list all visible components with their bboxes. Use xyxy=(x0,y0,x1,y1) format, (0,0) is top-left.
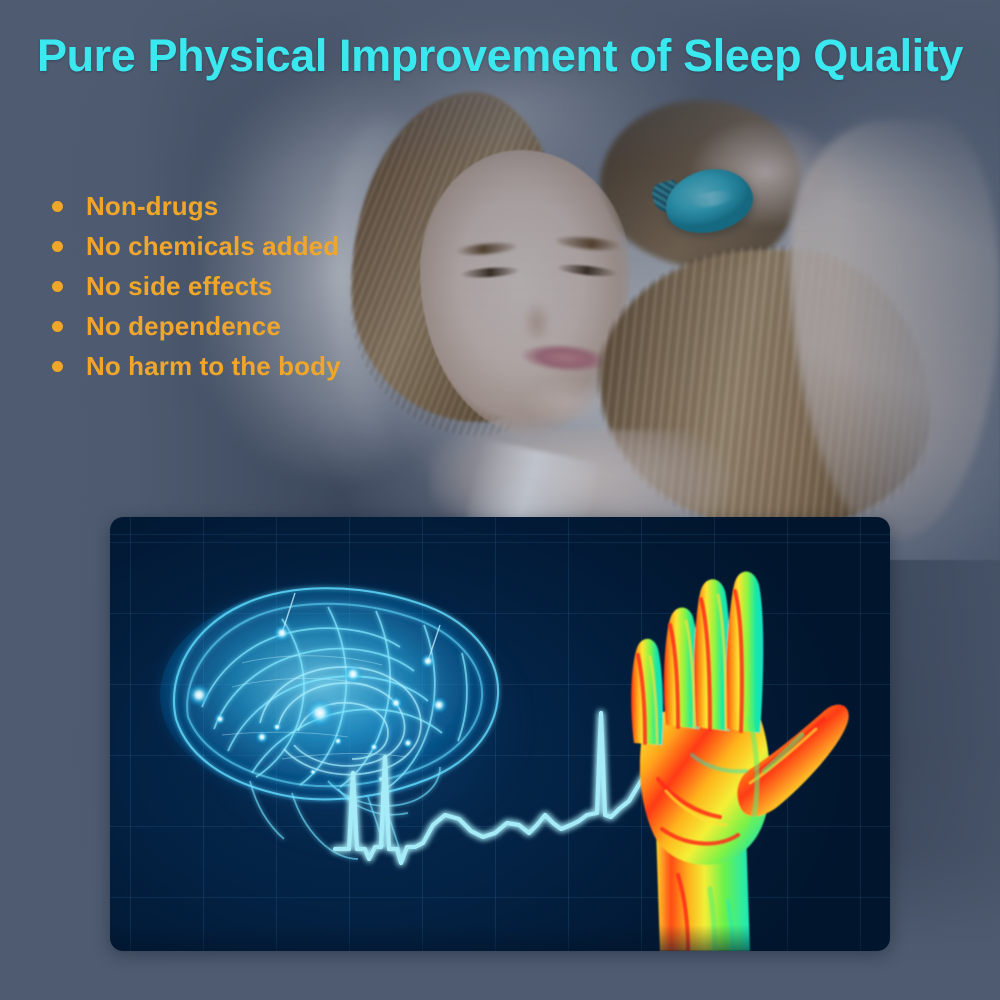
benefits-list: Non-drugs No chemicals added No side eff… xyxy=(52,186,472,386)
list-item: No dependence xyxy=(52,306,472,346)
list-item: No chemicals added xyxy=(52,226,472,266)
benefit-label: No dependence xyxy=(86,311,281,342)
bullet-dot-icon xyxy=(52,281,63,292)
list-item: No harm to the body xyxy=(52,346,472,386)
list-item: Non-drugs xyxy=(52,186,472,226)
benefit-label: No side effects xyxy=(86,271,272,302)
poster-root: Pure Physical Improvement of Sleep Quali… xyxy=(0,0,1000,1000)
list-item: No side effects xyxy=(52,266,472,306)
bullet-dot-icon xyxy=(52,321,63,332)
brain-hand-tech-panel xyxy=(110,517,890,951)
bullet-dot-icon xyxy=(52,201,63,212)
benefit-label: Non-drugs xyxy=(86,191,218,222)
page-title: Pure Physical Improvement of Sleep Quali… xyxy=(0,30,1000,82)
bullet-dot-icon xyxy=(52,241,63,252)
benefit-label: No chemicals added xyxy=(86,231,339,262)
benefit-label: No harm to the body xyxy=(86,351,341,382)
thermal-hand-graphic xyxy=(600,529,890,951)
bullet-dot-icon xyxy=(52,361,63,372)
